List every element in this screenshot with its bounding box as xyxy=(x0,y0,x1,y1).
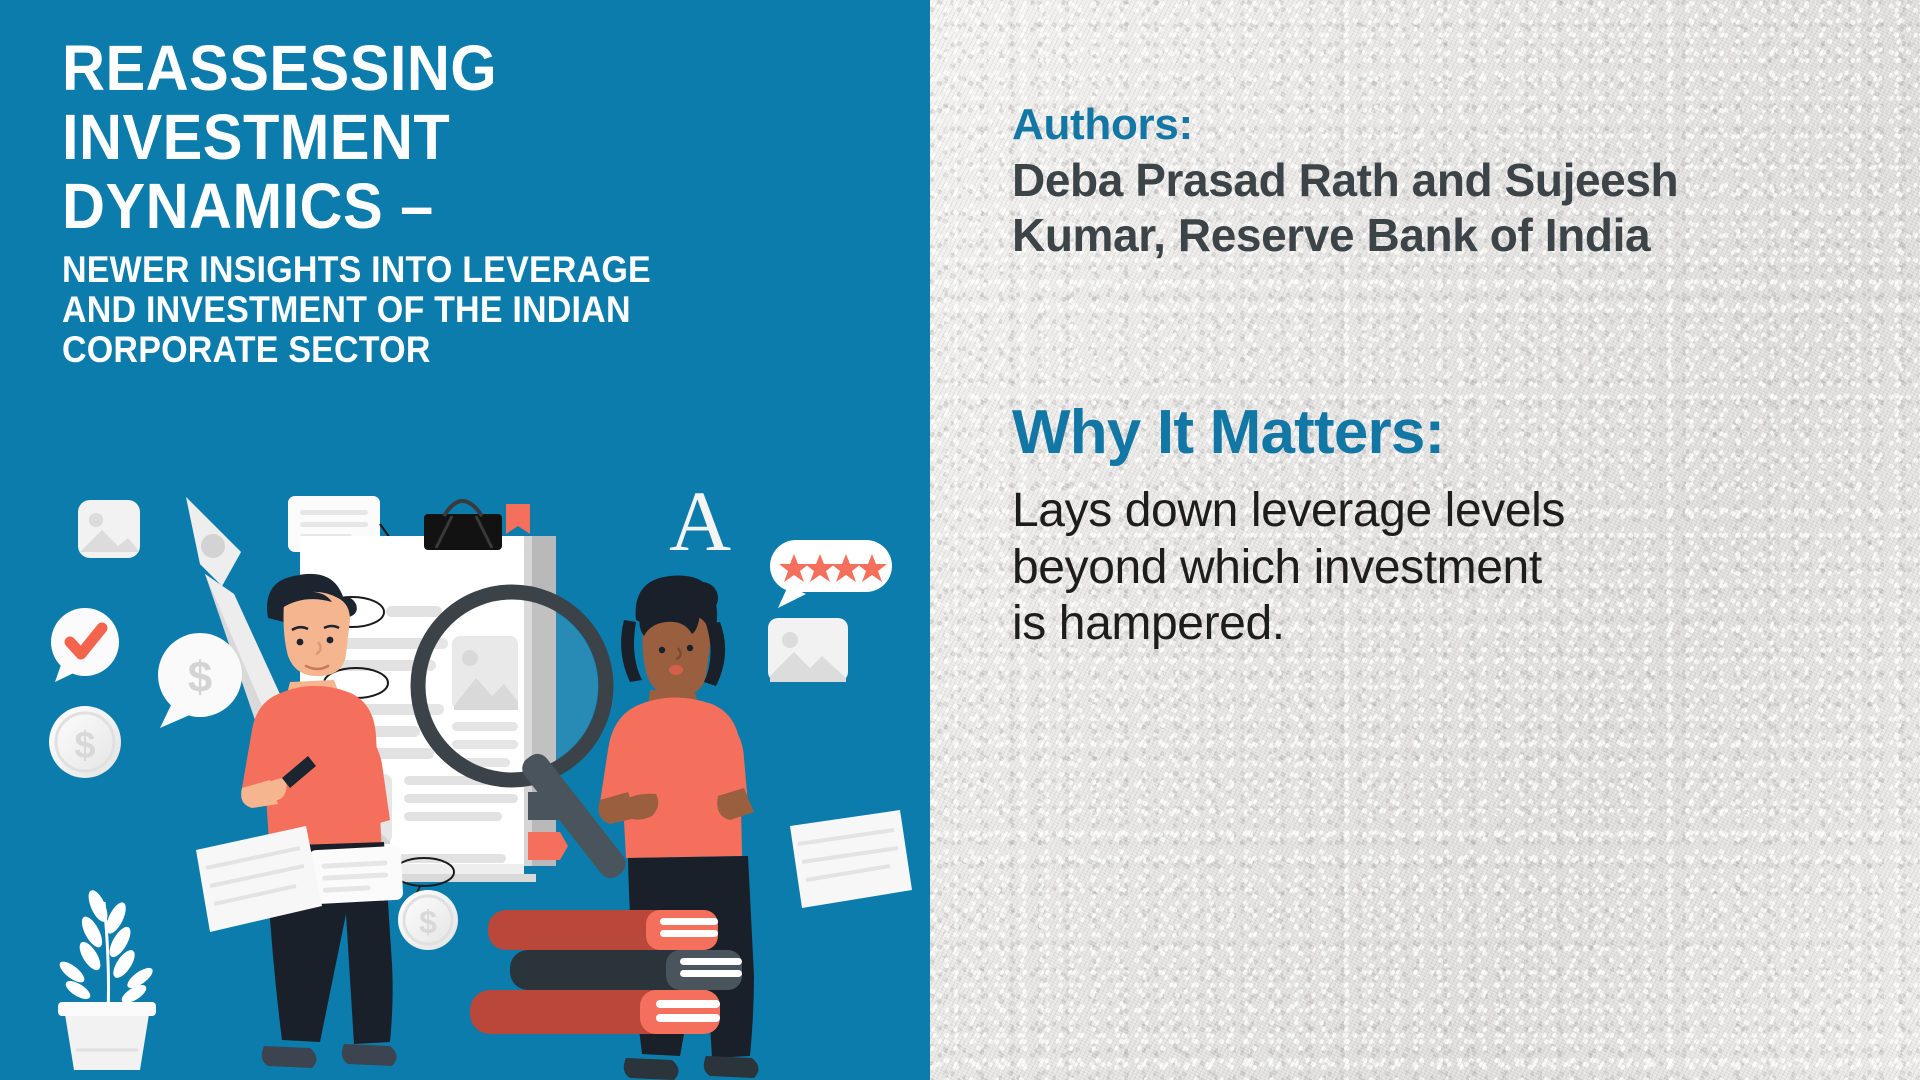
book-item xyxy=(470,990,720,1034)
page-subtitle: NEWER INSIGHTS INTO LEVERAGE AND INVESTM… xyxy=(62,250,826,370)
why-it-matters-body: Lays down leverage levels beyond which i… xyxy=(1012,483,1842,653)
why-it-matters-heading: Why It Matters: xyxy=(1012,400,1842,465)
why-it-matters-block: Why It Matters: Lays down leverage level… xyxy=(1012,400,1842,653)
svg-text:$: $ xyxy=(74,725,95,767)
why-body-line-2: beyond which investment xyxy=(1012,540,1842,597)
star-rating-bubble xyxy=(770,540,892,608)
research-and-analysis-illustration: $ $ xyxy=(0,490,930,1080)
subtitle-line-1: NEWER INSIGHTS INTO LEVERAGE xyxy=(62,250,826,290)
authors-names: Deba Prasad Rath and Sujeesh Kumar, Rese… xyxy=(1012,153,1852,263)
dollar-bubble-icon: $ xyxy=(158,633,242,728)
authors-label: Authors: xyxy=(1012,100,1852,149)
book-item xyxy=(488,910,718,950)
coin-dollar-small-icon: $ xyxy=(398,890,458,950)
binder-clip-icon xyxy=(424,501,502,550)
coin-dollar-icon: $ xyxy=(49,706,121,778)
book-stack xyxy=(470,910,742,1034)
check-bubble-icon xyxy=(51,608,119,682)
title-line-3: DYNAMICS – xyxy=(62,176,834,237)
title-block: REASSESSING INVESTMENT DYNAMICS – NEWER … xyxy=(62,38,892,370)
left-title-panel: REASSESSING INVESTMENT DYNAMICS – NEWER … xyxy=(0,0,930,1080)
right-content-panel: Authors: Deba Prasad Rath and Sujeesh Ku… xyxy=(930,0,1920,1080)
book-item xyxy=(510,950,742,990)
subtitle-line-3: CORPORATE SECTOR xyxy=(62,330,826,370)
potted-plant-icon xyxy=(56,888,156,1070)
authors-block: Authors: Deba Prasad Rath and Sujeesh Ku… xyxy=(1012,100,1852,264)
infographic-card: REASSESSING INVESTMENT DYNAMICS – NEWER … xyxy=(0,0,1920,1080)
paper-sheet-right-icon xyxy=(790,810,912,908)
authors-line-2: Kumar, Reserve Bank of India xyxy=(1012,208,1852,263)
svg-text:A: A xyxy=(669,490,731,569)
svg-text:$: $ xyxy=(419,904,437,940)
title-line-1: REASSESSING xyxy=(62,38,834,99)
why-body-line-3: is hampered. xyxy=(1012,596,1842,653)
note-card-lower-icon xyxy=(309,846,404,905)
image-card-icon xyxy=(768,618,848,682)
letter-a-serif: A xyxy=(669,490,731,569)
image-placeholder-icon xyxy=(78,500,140,558)
svg-text:$: $ xyxy=(188,653,212,702)
page-title: REASSESSING INVESTMENT DYNAMICS – xyxy=(62,38,834,236)
title-line-2: INVESTMENT xyxy=(62,107,834,168)
subtitle-line-2: AND INVESTMENT OF THE INDIAN xyxy=(62,290,826,330)
authors-line-1: Deba Prasad Rath and Sujeesh xyxy=(1012,153,1852,208)
why-body-line-1: Lays down leverage levels xyxy=(1012,483,1842,540)
